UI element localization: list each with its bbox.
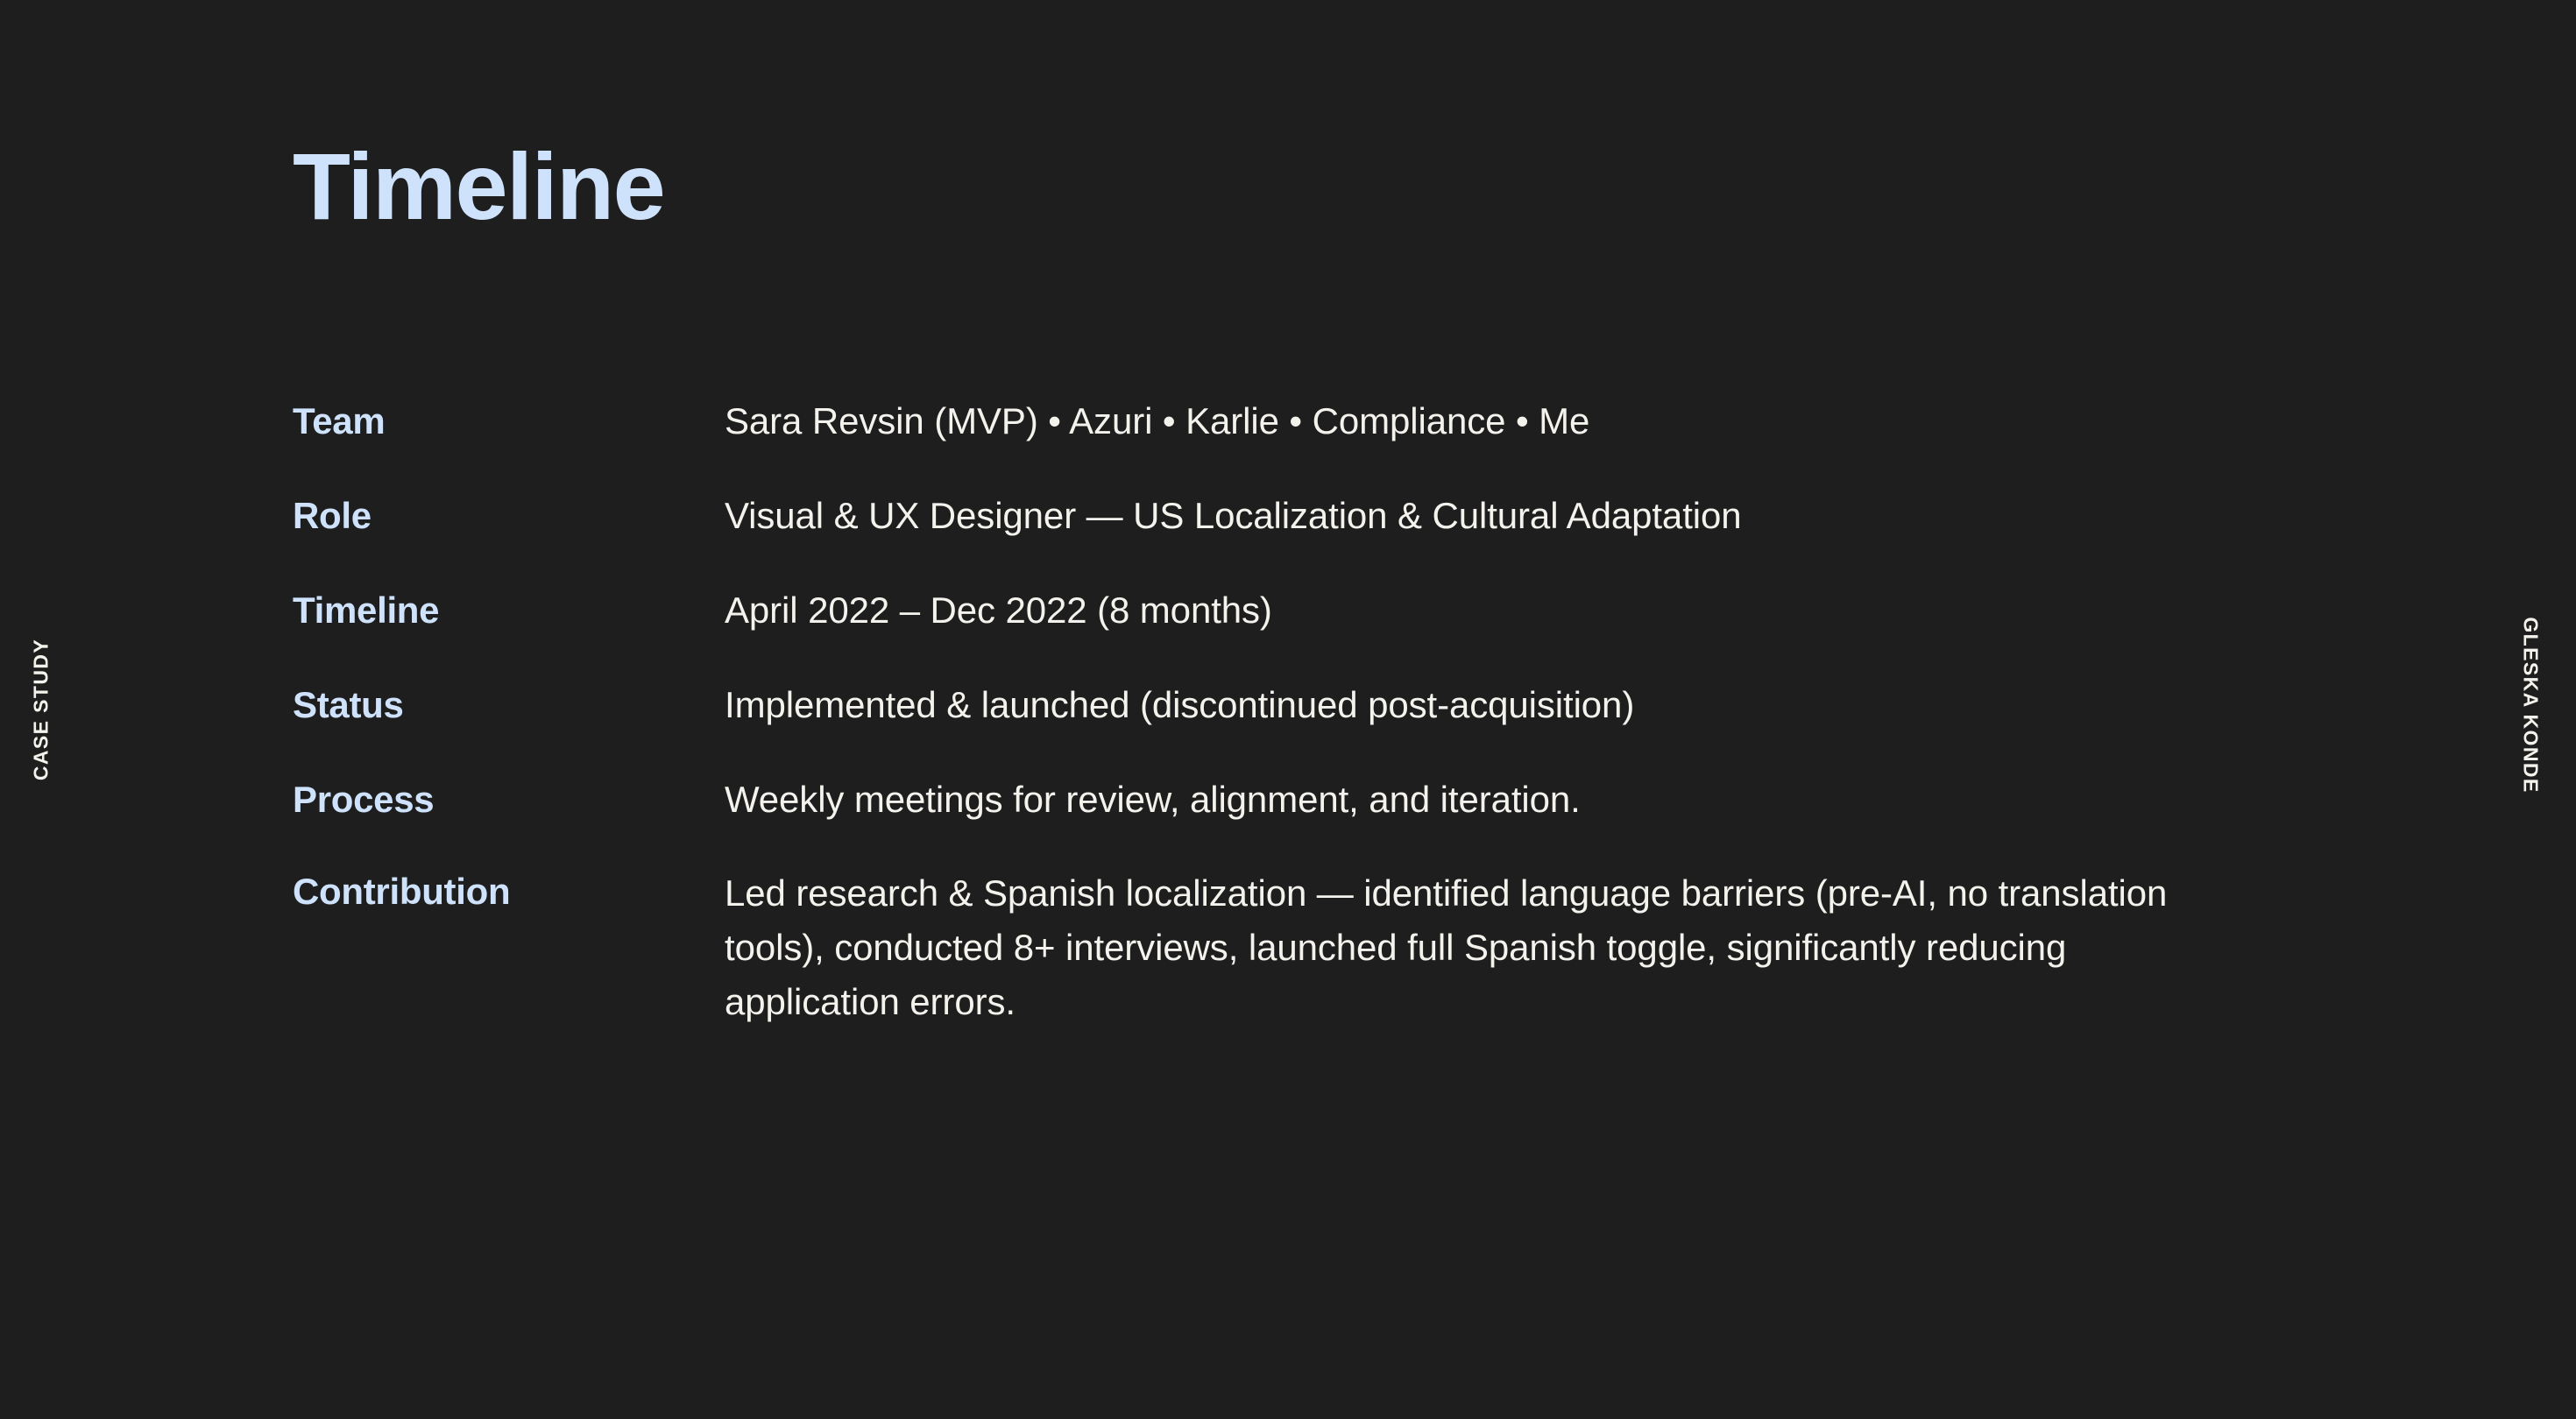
table-row: Team Sara Revsin (MVP) • Azuri • Karlie … bbox=[293, 396, 2273, 447]
row-label-status: Status bbox=[293, 680, 725, 729]
row-value-status: Implemented & launched (discontinued pos… bbox=[725, 680, 2236, 731]
row-value-role: Visual & UX Designer — US Localization &… bbox=[725, 491, 2236, 541]
table-row: Timeline April 2022 – Dec 2022 (8 months… bbox=[293, 585, 2273, 636]
row-label-team: Team bbox=[293, 396, 725, 445]
table-row: Process Weekly meetings for review, alig… bbox=[293, 774, 2273, 825]
row-value-contribution: Led research & Spanish localization — id… bbox=[725, 866, 2236, 1029]
side-label-brand: GLESKA KONDE bbox=[2521, 617, 2541, 793]
slide-canvas: CASE STUDY GLESKA KONDE Timeline Team Sa… bbox=[0, 0, 2576, 1419]
row-label-timeline: Timeline bbox=[293, 585, 725, 634]
page-title: Timeline bbox=[293, 136, 664, 238]
row-value-team: Sara Revsin (MVP) • Azuri • Karlie • Com… bbox=[725, 396, 2236, 447]
table-row: Contribution Led research & Spanish loca… bbox=[293, 866, 2273, 1029]
row-value-timeline: April 2022 – Dec 2022 (8 months) bbox=[725, 585, 2236, 636]
row-value-process: Weekly meetings for review, alignment, a… bbox=[725, 774, 2236, 825]
side-label-case-study: CASE STUDY bbox=[32, 639, 52, 780]
row-label-role: Role bbox=[293, 491, 725, 540]
table-row: Status Implemented & launched (discontin… bbox=[293, 680, 2273, 731]
table-row: Role Visual & UX Designer — US Localizat… bbox=[293, 491, 2273, 541]
row-label-process: Process bbox=[293, 774, 725, 823]
row-label-contribution: Contribution bbox=[293, 866, 725, 915]
info-table: Team Sara Revsin (MVP) • Azuri • Karlie … bbox=[293, 396, 2273, 1029]
